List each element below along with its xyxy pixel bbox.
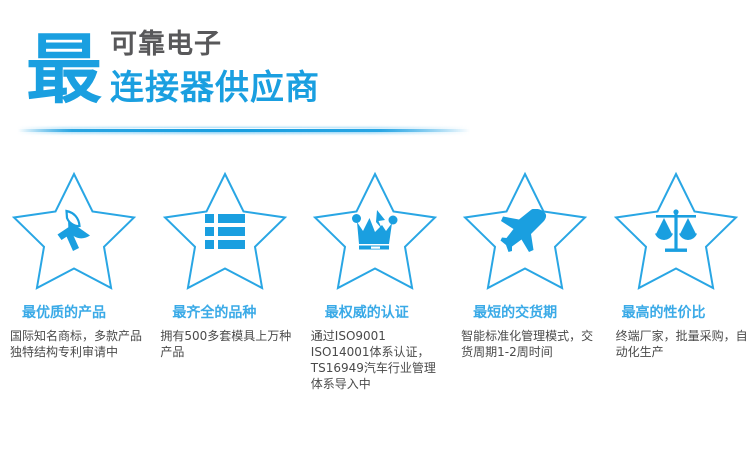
- balance-scale-icon: [653, 208, 699, 254]
- headline-divider: [18, 126, 470, 135]
- star-inner-icon-slot-4: [459, 168, 591, 294]
- headline-banner: 最 可靠电子 连接器供应商: [0, 0, 752, 150]
- feature-item-2: 最齐全的品种 拥有500多套模具上万种产品: [150, 168, 300, 392]
- headline-text-block: 最 可靠电子 连接器供应商: [26, 28, 476, 124]
- feature-item-4: 最短的交货期 智能标准化管理模式，交货周期1-2周时间: [451, 168, 601, 392]
- star-badge-3: [309, 168, 441, 294]
- headline-line-2: 连接器供应商: [110, 66, 320, 110]
- feature-body-1: 国际知名商标，多款产品独特结构专利审请中: [10, 328, 144, 360]
- feature-title-4: 最短的交货期: [473, 304, 557, 322]
- feature-item-5: 最高的性价比 终端厂家，批量采购，自动化生产: [602, 168, 752, 392]
- feature-item-1: 最优质的产品 国际知名商标，多款产品独特结构专利审请中: [0, 168, 150, 392]
- star-badge-4: [459, 168, 591, 294]
- feature-body-4: 智能标准化管理模式，交货周期1-2周时间: [461, 328, 595, 360]
- feature-row: 最优质的产品 国际知名商标，多款产品独特结构专利审请中: [0, 168, 752, 392]
- feature-body-3: 通过ISO9001 ISO14001体系认证，TS16949汽车行业管理体系导入…: [311, 328, 445, 392]
- feature-body-2: 拥有500多套模具上万种产品: [160, 328, 294, 360]
- star-badge-2: [159, 168, 291, 294]
- list-grid-icon: [203, 212, 247, 250]
- feature-title-3: 最权威的认证: [325, 304, 409, 322]
- star-badge-5: [610, 168, 742, 294]
- divider-highlight: [18, 128, 470, 129]
- feature-item-3: 最权威的认证 通过ISO9001 ISO14001体系认证，TS16949汽车行…: [301, 168, 451, 392]
- star-inner-icon-slot-2: [159, 168, 291, 294]
- star-inner-icon-slot-3: [309, 168, 441, 294]
- headline-lines: 可靠电子 连接器供应商: [110, 28, 320, 110]
- headline-emphasis-char: 最: [26, 24, 102, 116]
- star-inner-icon-slot-5: [610, 168, 742, 294]
- crown-icon: [351, 208, 399, 254]
- feature-title-1: 最优质的产品: [22, 304, 106, 322]
- satellite-dish-icon: [49, 207, 99, 255]
- feature-body-5: 终端厂家，批量采购，自动化生产: [616, 328, 750, 360]
- star-inner-icon-slot-1: [8, 168, 140, 294]
- airplane-icon: [500, 209, 550, 253]
- headline-line-1: 可靠电子: [110, 28, 320, 62]
- divider-core: [18, 129, 470, 132]
- feature-title-2: 最齐全的品种: [172, 304, 256, 322]
- star-badge-1: [8, 168, 140, 294]
- feature-title-5: 最高的性价比: [622, 304, 706, 322]
